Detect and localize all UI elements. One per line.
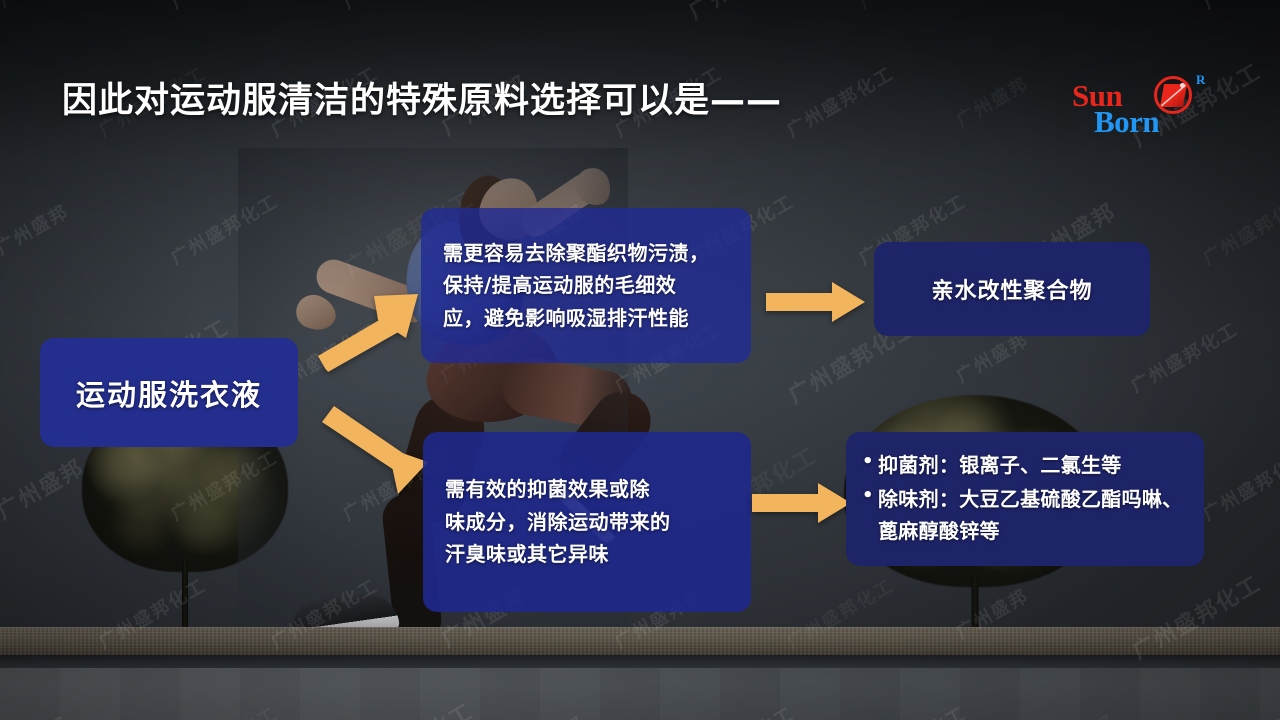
page-title: 因此对运动服清洁的特殊原料选择可以是—— <box>62 72 782 123</box>
sun-emblem-icon <box>1154 76 1192 114</box>
logo-text-born: Born <box>1094 104 1159 140</box>
list-item: 除味剂：大豆乙基硫酸乙酯吗啉、蓖麻醇酸锌等 <box>862 483 1188 547</box>
node-product-label: 运动服洗衣液 <box>76 372 262 414</box>
node-requirement-2[interactable]: 需有效的抑菌效果或除 味成分，消除运动带来的 汗臭味或其它异味 <box>423 432 751 612</box>
requirement-2-line: 味成分，消除运动带来的 <box>445 506 729 538</box>
requirement-2-line: 需有效的抑菌效果或除 <box>445 473 729 505</box>
requirement-1-line: 应，避免影响吸湿排汗性能 <box>443 302 729 334</box>
node-answer-1[interactable]: 亲水改性聚合物 <box>874 242 1150 336</box>
arrow-product-to-requirement-2 <box>316 406 432 502</box>
node-answer-2[interactable]: 抑菌剂：银离子、二氯生等 除味剂：大豆乙基硫酸乙酯吗啉、蓖麻醇酸锌等 <box>846 432 1204 566</box>
answer-2-list: 抑菌剂：银离子、二氯生等 除味剂：大豆乙基硫酸乙酯吗啉、蓖麻醇酸锌等 <box>862 449 1188 549</box>
registered-trademark-icon: R <box>1196 72 1205 88</box>
requirement-2-line: 汗臭味或其它异味 <box>445 538 729 570</box>
arrow-product-to-requirement-1 <box>312 282 424 376</box>
arrow-requirement-2-to-answer-2 <box>752 482 852 524</box>
node-requirement-1[interactable]: 需更容易去除聚酯织物污渍， 保持/提高运动服的毛细效 应，避免影响吸湿排汗性能 <box>421 208 751 363</box>
answer-1-label: 亲水改性聚合物 <box>931 273 1092 305</box>
brand-logo: Sun Born R <box>1068 70 1218 146</box>
list-item: 抑菌剂：银离子、二氯生等 <box>862 449 1188 481</box>
slide-canvas: 广州盛邦广州盛邦化工广州盛邦化工广州盛邦广州盛邦化工广州盛邦化工广州盛邦广州盛邦… <box>0 0 1280 720</box>
arrow-requirement-1-to-answer-1 <box>766 281 866 323</box>
node-product[interactable]: 运动服洗衣液 <box>40 338 298 447</box>
requirement-1-line: 保持/提高运动服的毛细效 <box>443 269 729 301</box>
requirement-1-line: 需更容易去除聚酯织物污渍， <box>443 237 729 269</box>
